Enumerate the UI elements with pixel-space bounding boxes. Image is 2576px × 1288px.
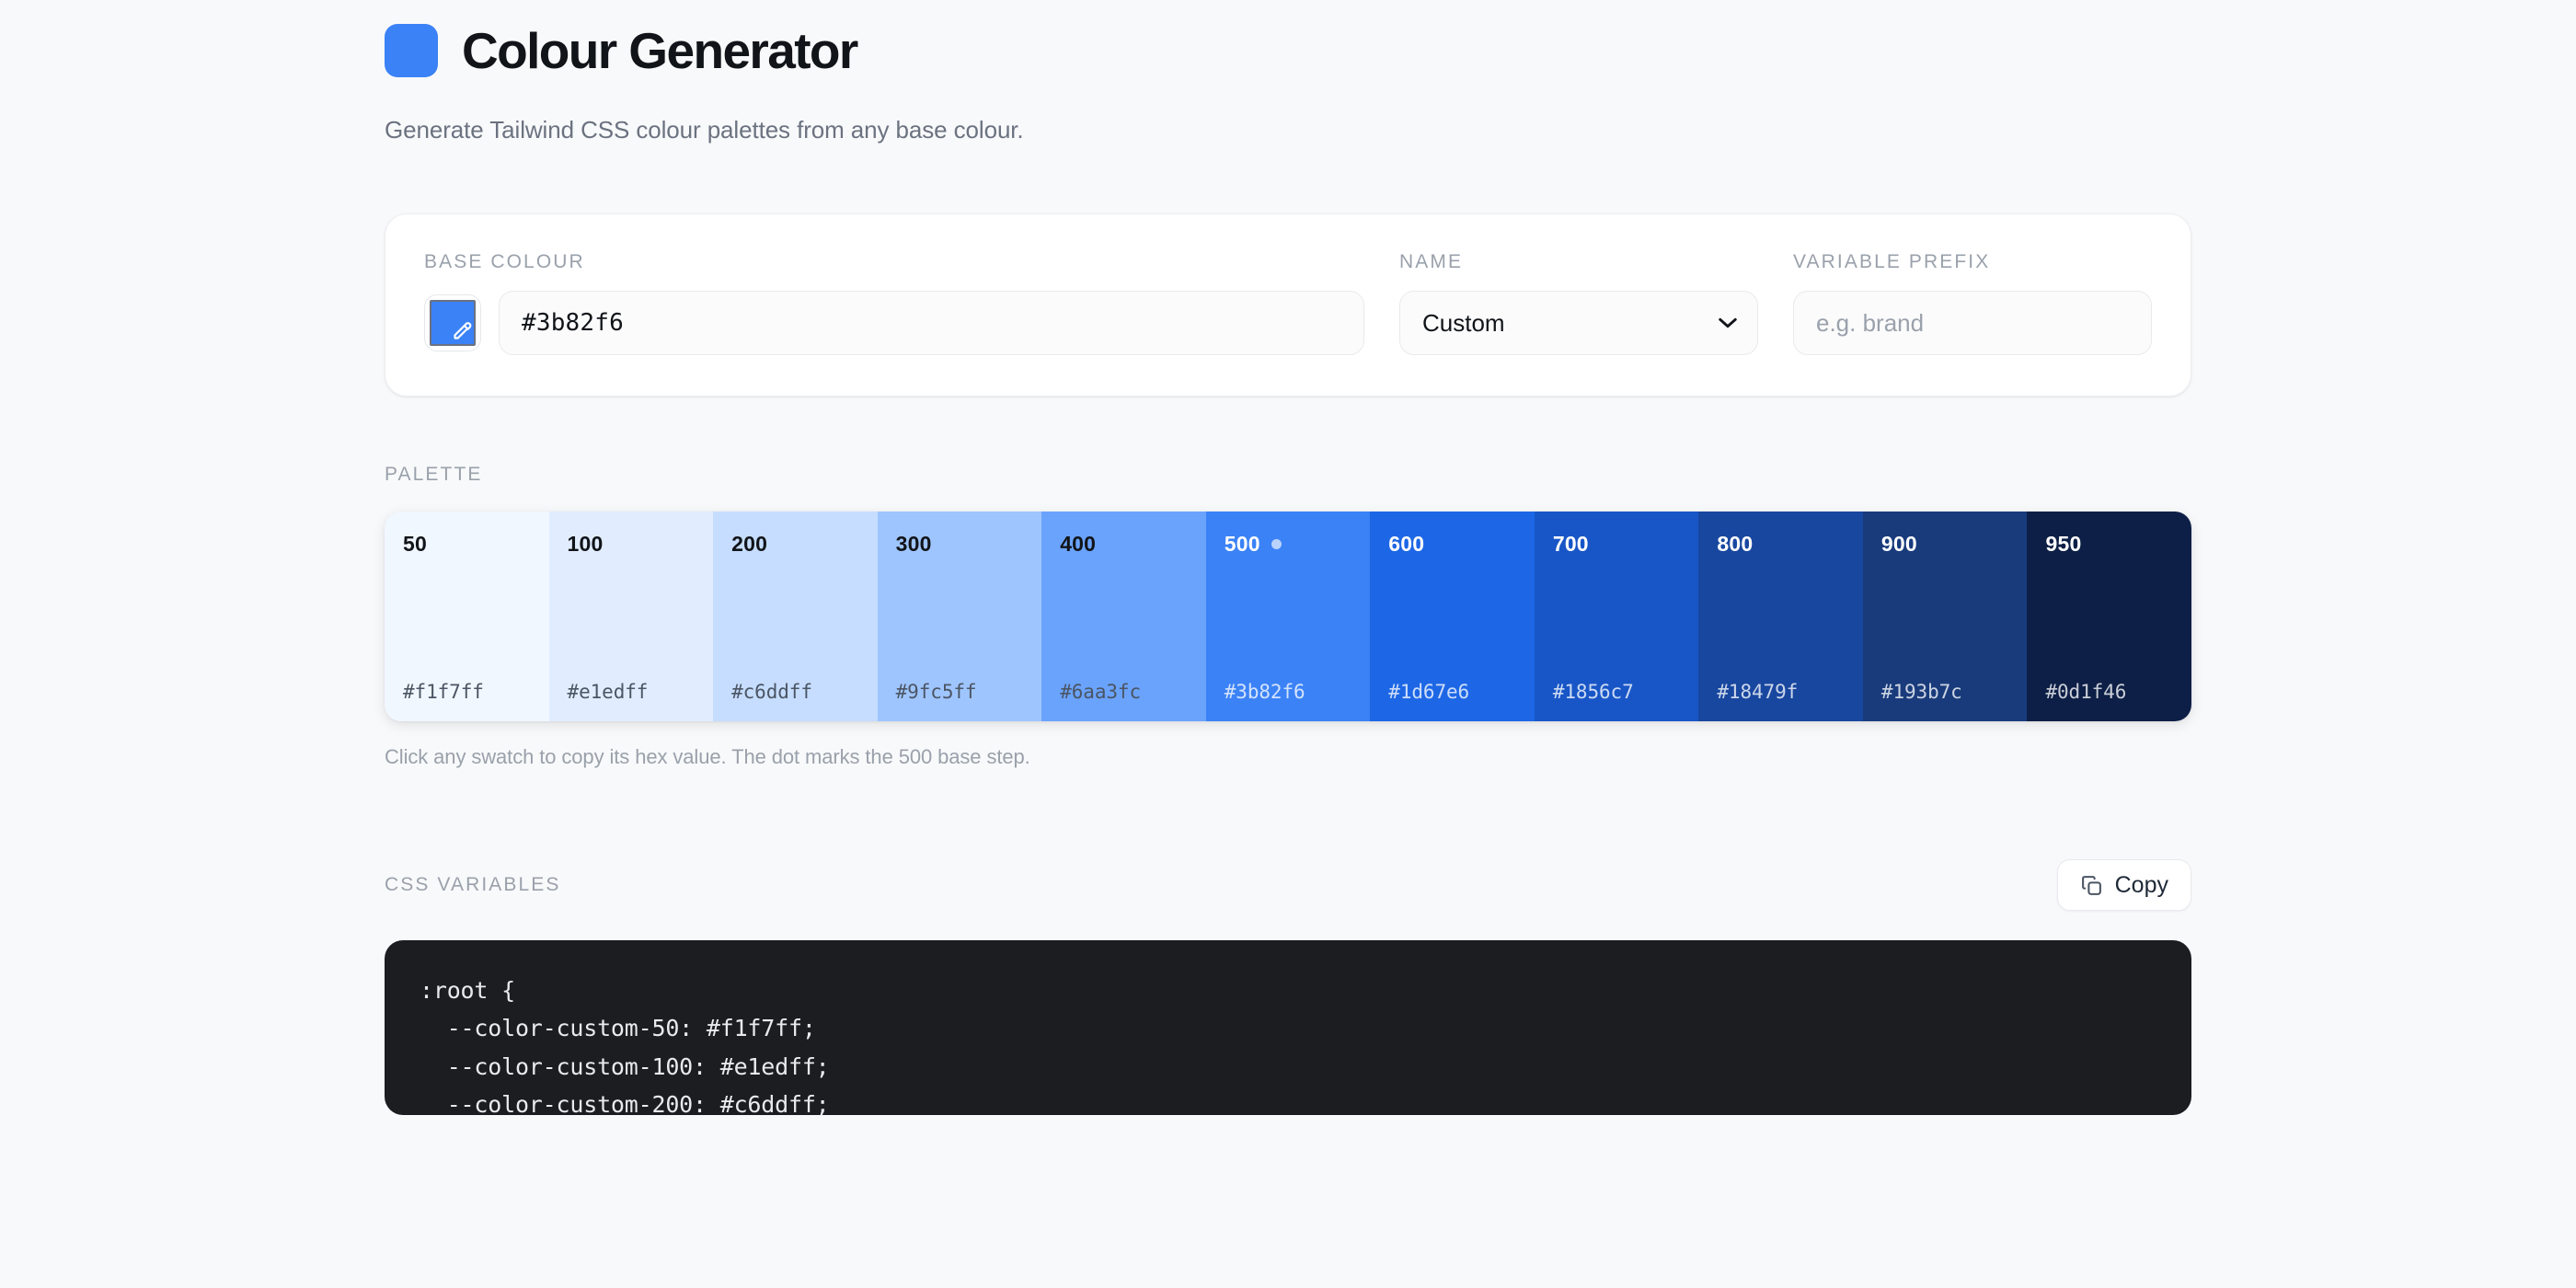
palette-swatch-hex: #0d1f46 [2045,681,2173,703]
palette-swatch-900[interactable]: 900#193b7c [1863,512,2028,721]
variable-prefix-field: VARIABLE PREFIX [1793,251,2152,355]
palette-swatch-step: 600 [1388,532,1516,557]
palette-swatch-step: 700 [1553,532,1681,557]
palette-swatch-hex: #6aa3fc [1060,681,1188,703]
palette-swatch-step-label: 500 [1225,532,1260,557]
palette-swatch-hex: #c6ddff [731,681,859,703]
base-step-dot-icon [1271,539,1282,549]
palette-swatch-step-label: 700 [1553,532,1589,557]
name-label: NAME [1399,251,1758,273]
palette-swatch-step-label: 300 [896,532,932,557]
palette-swatch-100[interactable]: 100#e1edff [549,512,714,721]
palette-swatch-500[interactable]: 500#3b82f6 [1206,512,1371,721]
palette-swatch-hex: #1d67e6 [1388,681,1516,703]
controls-card: BASE COLOUR NAME Custom [385,213,2191,397]
palette-swatch-step-label: 400 [1060,532,1096,557]
base-colour-picker[interactable] [424,294,481,351]
variable-prefix-input[interactable] [1793,291,2152,355]
palette-swatch-hex: #193b7c [1881,681,2009,703]
palette-swatch-300[interactable]: 300#9fc5ff [878,512,1042,721]
palette-swatch-950[interactable]: 950#0d1f46 [2027,512,2191,721]
css-variables-label: CSS VARIABLES [385,874,560,896]
page-header: Colour Generator Generate Tailwind CSS c… [385,0,2191,144]
palette-strip: 50#f1f7ff100#e1edff200#c6ddff300#9fc5ff4… [385,512,2191,721]
variable-prefix-label: VARIABLE PREFIX [1793,251,2152,273]
palette-swatch-step: 300 [896,532,1024,557]
app-logo-icon [385,24,438,77]
palette-swatch-600[interactable]: 600#1d67e6 [1370,512,1535,721]
palette-swatch-step-label: 600 [1388,532,1424,557]
palette-swatch-step-label: 200 [731,532,767,557]
palette-swatch-800[interactable]: 800#18479f [1698,512,1863,721]
palette-swatch-hex: #18479f [1717,681,1845,703]
palette-swatch-hex: #9fc5ff [896,681,1024,703]
page-root: Colour Generator Generate Tailwind CSS c… [0,0,2576,1288]
palette-swatch-400[interactable]: 400#6aa3fc [1041,512,1206,721]
palette-section-label: PALETTE [385,464,2191,486]
palette-swatch-700[interactable]: 700#1856c7 [1535,512,1699,721]
palette-swatch-hex: #1856c7 [1553,681,1681,703]
palette-swatch-step: 800 [1717,532,1845,557]
copy-button-label: Copy [2115,872,2168,899]
page-title: Colour Generator [462,26,857,76]
copy-button[interactable]: Copy [2057,859,2191,911]
page-subtitle: Generate Tailwind CSS colour palettes fr… [385,116,2191,144]
palette-hint: Click any swatch to copy its hex value. … [385,745,2191,769]
palette-swatch-50[interactable]: 50#f1f7ff [385,512,549,721]
name-select[interactable]: Custom [1399,291,1758,355]
palette-swatch-step: 400 [1060,532,1188,557]
base-colour-swatch [430,300,476,346]
base-colour-field: BASE COLOUR [424,251,1364,355]
palette-swatch-step-label: 50 [403,532,427,557]
palette-swatch-step: 950 [2045,532,2173,557]
css-variables-code-block: :root { --color-custom-50: #f1f7ff; --co… [385,940,2191,1115]
css-variables-code: :root { --color-custom-50: #f1f7ff; --co… [420,972,2156,1115]
palette-swatch-step-label: 950 [2045,532,2081,557]
palette-swatch-step: 100 [568,532,696,557]
palette-swatch-step: 200 [731,532,859,557]
palette-swatch-step-label: 800 [1717,532,1753,557]
palette-swatch-200[interactable]: 200#c6ddff [713,512,878,721]
palette-swatch-hex: #e1edff [568,681,696,703]
title-row: Colour Generator [385,11,2191,90]
hex-input[interactable] [499,291,1364,355]
palette-swatch-step: 50 [403,532,531,557]
base-colour-label: BASE COLOUR [424,251,1364,273]
eyedropper-icon [449,320,473,344]
palette-swatch-step: 500 [1225,532,1352,557]
copy-icon [2080,874,2103,897]
name-select-wrap: Custom [1399,291,1758,355]
palette-swatch-hex: #3b82f6 [1225,681,1352,703]
palette-swatch-hex: #f1f7ff [403,681,531,703]
base-colour-row [424,291,1364,355]
css-variables-header: CSS VARIABLES Copy [385,859,2191,911]
palette-swatch-step-label: 100 [568,532,604,557]
name-field: NAME Custom [1399,251,1758,355]
palette-swatch-step-label: 900 [1881,532,1917,557]
palette-swatch-step: 900 [1881,532,2009,557]
